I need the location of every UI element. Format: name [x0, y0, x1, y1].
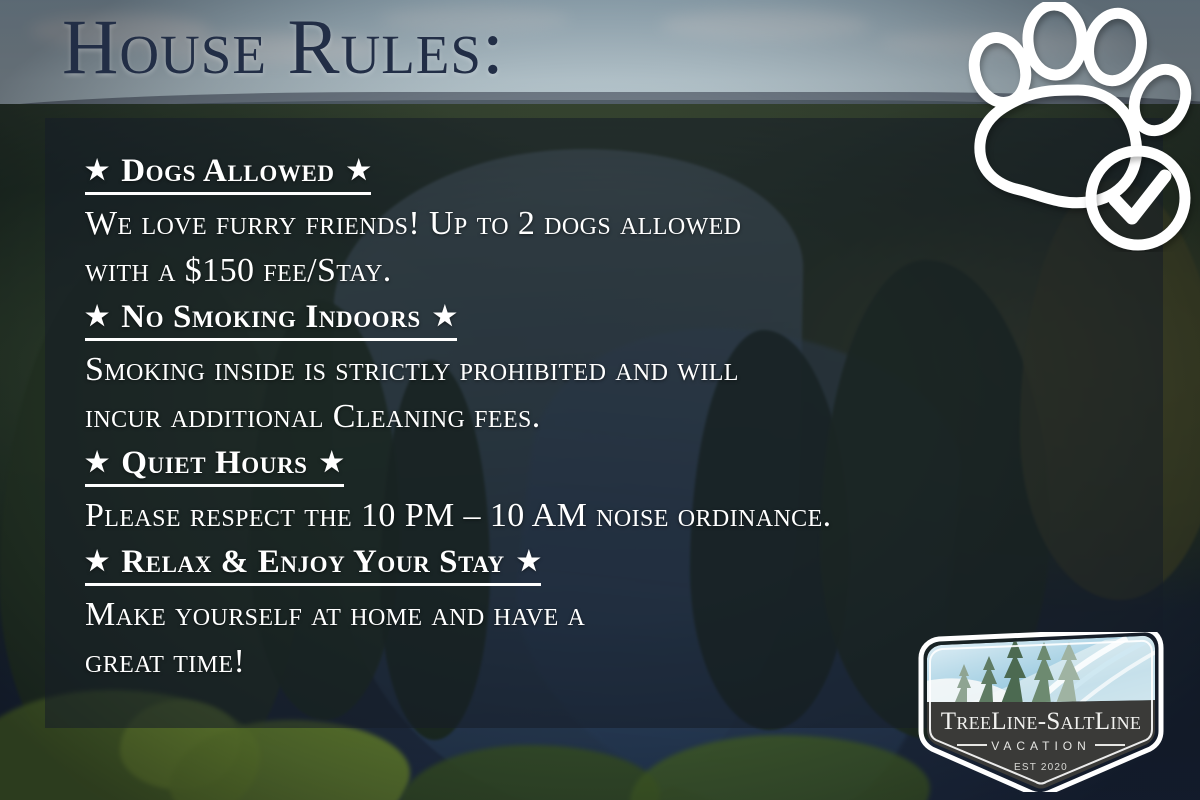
logo-name: TreeLine-SaltLine: [905, 708, 1177, 736]
rule-heading: ★Dogs Allowed★: [85, 150, 371, 195]
rule-heading: ★Quiet Hours★: [85, 442, 344, 487]
logo-scene: [905, 632, 1177, 706]
rule-body-line: We love furry friends! Up to 2 dogs allo…: [85, 200, 1145, 247]
rule-body-line: incur additional Cleaning fees.: [85, 393, 1145, 440]
rule-body: We love furry friends! Up to 2 dogs allo…: [85, 200, 1145, 294]
house-rules-poster: House Rules: ★Dogs Allowed★: [0, 0, 1200, 800]
rule-body-line: Please respect the 10 PM – 10 AM noise o…: [85, 492, 1145, 539]
brand-logo: TreeLine-SaltLine VACATION EST 2020: [905, 632, 1177, 792]
rule-heading: ★Relax & Enjoy Your Stay★: [85, 541, 541, 586]
rule-body: Please respect the 10 PM – 10 AM noise o…: [85, 492, 1145, 539]
star-icon: ★: [85, 546, 109, 576]
star-icon: ★: [85, 301, 109, 331]
star-icon: ★: [85, 447, 109, 477]
rule-item: ★Dogs Allowed★ We love furry friends! Up…: [85, 150, 1145, 294]
logo-subtitle: VACATION: [905, 739, 1177, 753]
paw-toe-pad: [1026, 3, 1085, 77]
rule-heading-text: Quiet Hours: [121, 445, 307, 481]
star-icon: ★: [347, 155, 371, 185]
rule-item: ★Quiet Hours★ Please respect the 10 PM –…: [85, 442, 1145, 539]
paw-toe-pad: [1082, 8, 1147, 85]
rule-item: ★No Smoking Indoors★ Smoking inside is s…: [85, 296, 1145, 440]
rule-body-line: Smoking inside is strictly prohibited an…: [85, 346, 1145, 393]
star-icon: ★: [85, 155, 109, 185]
rule-body: Smoking inside is strictly prohibited an…: [85, 346, 1145, 440]
rule-heading-text: Relax & Enjoy Your Stay: [121, 544, 504, 580]
page-title: House Rules:: [62, 8, 505, 86]
rule-body-line: with a $150 fee/Stay.: [85, 247, 1145, 294]
logo-established: EST 2020: [905, 762, 1177, 773]
rule-heading-text: No Smoking Indoors: [121, 299, 421, 335]
rule-heading-text: Dogs Allowed: [121, 153, 334, 189]
rules-list: ★Dogs Allowed★ We love furry friends! Up…: [85, 150, 1145, 687]
star-icon: ★: [320, 447, 344, 477]
rule-body-line: Make yourself at home and have a: [85, 591, 1145, 638]
rule-heading: ★No Smoking Indoors★: [85, 296, 457, 341]
star-icon: ★: [433, 301, 457, 331]
star-icon: ★: [517, 546, 541, 576]
